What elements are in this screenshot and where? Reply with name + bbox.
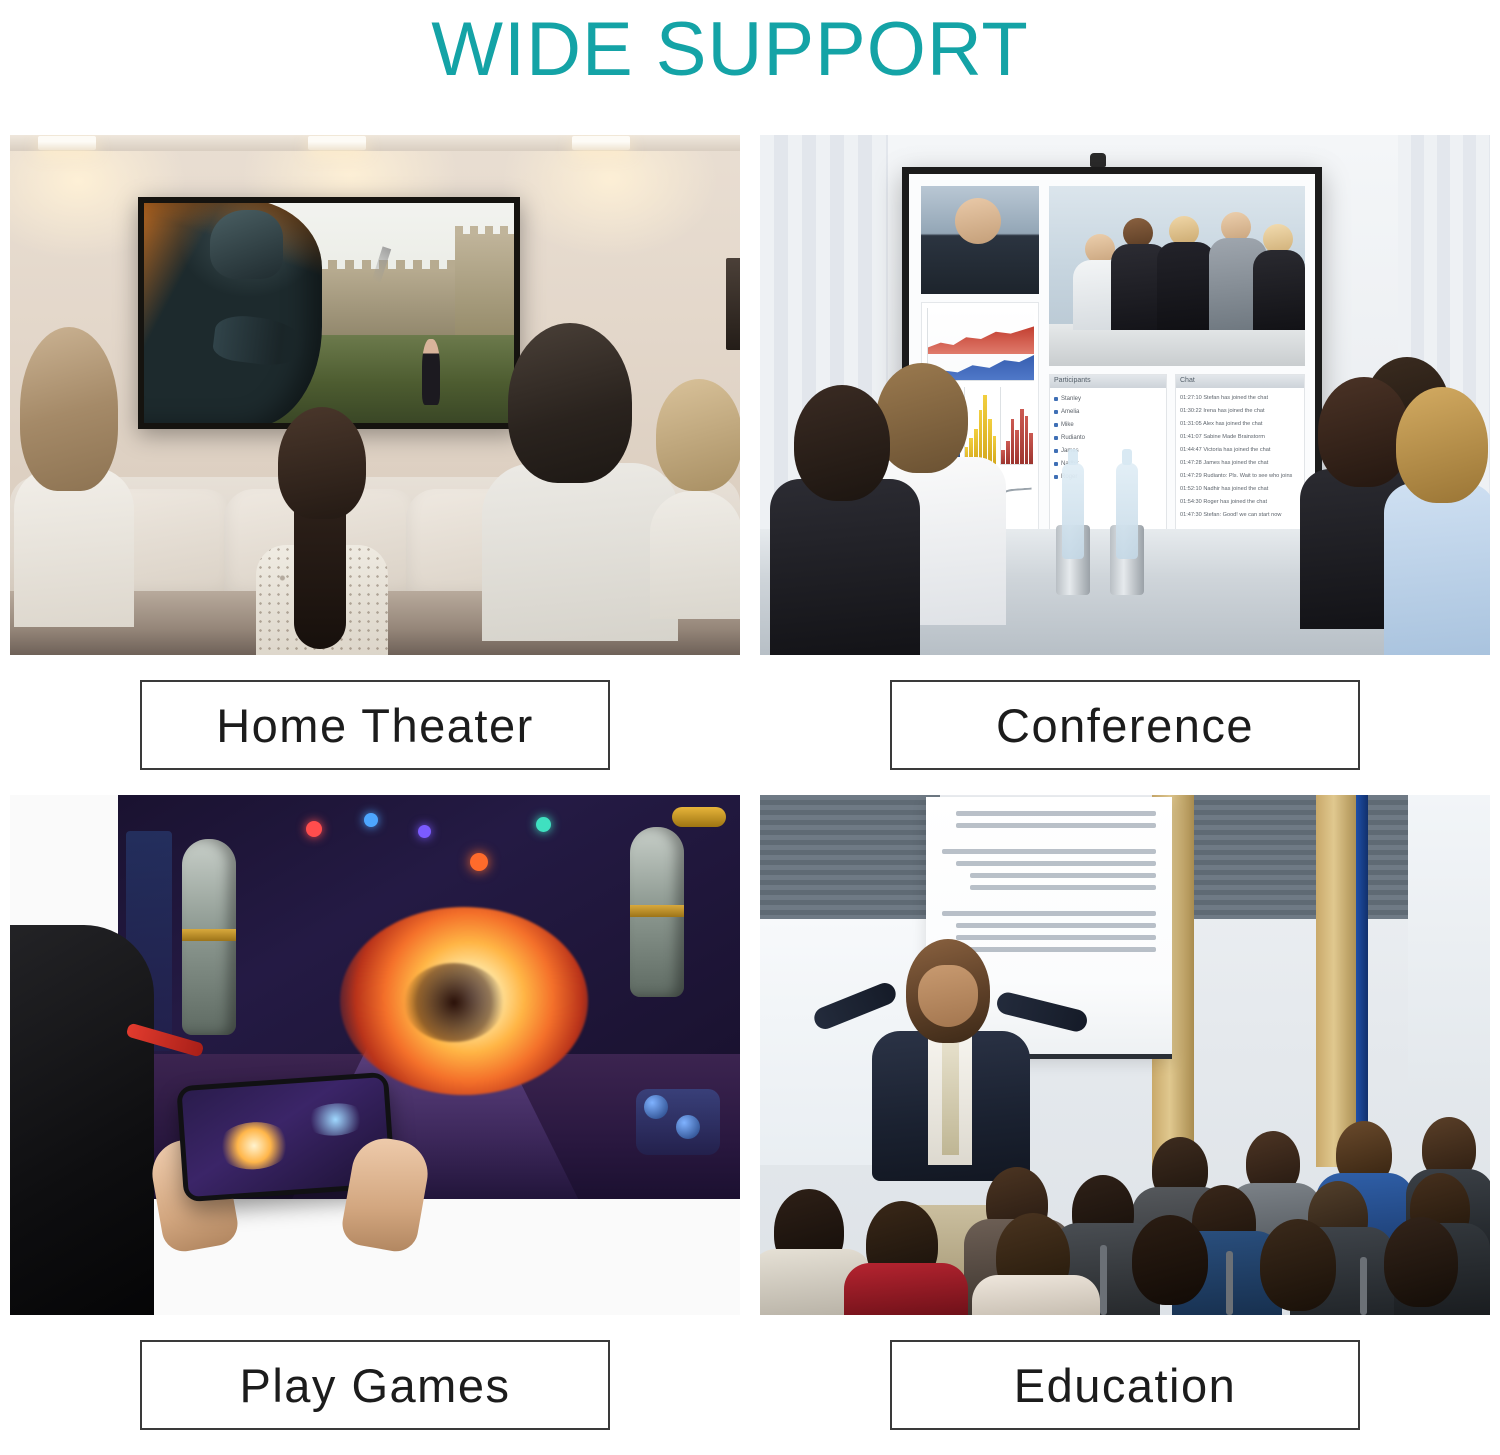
game-minion-marker xyxy=(364,813,378,827)
caption-box-education: Education xyxy=(890,1340,1360,1430)
water-bottle xyxy=(1116,463,1138,559)
caption-label-play-games: Play Games xyxy=(240,1358,511,1413)
caption-label-conference: Conference xyxy=(996,698,1254,753)
page-title: WIDE SUPPORT xyxy=(0,2,1460,98)
user-icon xyxy=(1054,397,1058,401)
presenter-video-thumbnail xyxy=(921,186,1039,294)
remote-participant-body xyxy=(1157,242,1215,330)
game-minion-marker xyxy=(470,853,488,871)
viewer-woman xyxy=(14,327,134,627)
list-item[interactable]: Rudianto xyxy=(1054,431,1162,444)
mech-robot xyxy=(144,203,322,423)
viewer-head xyxy=(656,379,740,491)
player-silhouette xyxy=(10,925,154,1315)
user-icon xyxy=(1054,449,1058,453)
caption-box-conference: Conference xyxy=(890,680,1360,770)
game-tower xyxy=(630,827,684,997)
caption-wrap-education: Education xyxy=(760,1315,1490,1455)
ceiling-light-icon xyxy=(572,136,630,150)
viewer-body xyxy=(14,467,134,627)
chat-line: 01:54:30 Roger has joined the chat xyxy=(1180,496,1300,509)
viewer-man xyxy=(482,323,678,641)
viewer-body xyxy=(650,491,740,619)
explosion-effect xyxy=(340,907,588,1095)
chat-line: 01:44:47 Victoria has joined the chat xyxy=(1180,444,1300,457)
audience xyxy=(760,1063,1490,1315)
viewer-head xyxy=(20,327,118,491)
audience-body xyxy=(844,1263,968,1315)
user-icon xyxy=(1054,410,1058,414)
caption-box-home-theater: Home Theater xyxy=(140,680,610,770)
chat-line: 01:27:10 Stefan has joined the chat xyxy=(1180,392,1300,405)
caption-box-play-games: Play Games xyxy=(140,1340,610,1430)
slide-bullet-line xyxy=(956,811,1156,816)
chair-leg xyxy=(1360,1257,1367,1315)
participant-name: Mike xyxy=(1061,422,1074,428)
game-control-wheel xyxy=(636,1089,720,1155)
participant-name: Amelia xyxy=(1061,409,1079,415)
caption-wrap-home-theater: Home Theater xyxy=(10,655,740,795)
viewer-head xyxy=(278,407,366,519)
chat-line: 01:47:30 Stefan: Good! we can start now xyxy=(1180,509,1300,522)
slide-bullet-line xyxy=(970,873,1156,878)
attendee-body xyxy=(770,479,920,655)
attendee-woman-left xyxy=(770,385,920,655)
chat-pane-header: Chat xyxy=(1176,375,1304,388)
area-series-upper xyxy=(928,324,1034,354)
window-blind xyxy=(1194,795,1408,919)
chat-line: 01:47:28 James has joined the chat xyxy=(1180,457,1300,470)
use-case-grid: Home Theater xyxy=(10,135,1490,1420)
chat-log: 01:27:10 Stefan has joined the chat 01:3… xyxy=(1176,388,1304,526)
ceiling-light-icon xyxy=(308,136,366,150)
chat-line: 01:31:05 Alex has joined the chat xyxy=(1180,418,1300,431)
viewer-head xyxy=(508,323,632,483)
slide-bullet-line xyxy=(956,861,1156,866)
slide-bullet-line xyxy=(942,911,1156,916)
projection-screen xyxy=(138,197,520,429)
conference-photo: Participants Stanley Amelia Mike Rudiant… xyxy=(760,135,1490,655)
game-minion-marker xyxy=(536,817,551,832)
chat-line: 01:30:22 Irena has joined the chat xyxy=(1180,405,1300,418)
caption-wrap-conference: Conference xyxy=(760,655,1490,795)
camera-icon xyxy=(1090,153,1106,167)
list-item[interactable]: Stanley xyxy=(1054,392,1162,405)
viewer-girl xyxy=(256,407,388,655)
game-minion-marker xyxy=(418,825,431,838)
chat-line: 01:47:29 Rudianto: Pls. Wait to see who … xyxy=(1180,470,1300,483)
viewer-body xyxy=(482,463,678,641)
chair-leg xyxy=(1226,1251,1233,1315)
slide-bullet-line xyxy=(956,823,1156,828)
slide-bullet-line xyxy=(942,849,1156,854)
panel-education: Education xyxy=(760,795,1490,1455)
attendee-head xyxy=(794,385,890,501)
slide-bullet-line xyxy=(956,923,1156,928)
caption-wrap-play-games: Play Games xyxy=(10,1315,740,1455)
panel-home-theater: Home Theater xyxy=(10,135,740,795)
participant-name: Stanley xyxy=(1061,396,1081,402)
attendee-body xyxy=(1384,483,1490,655)
audience-body xyxy=(972,1275,1100,1315)
panel-play-games: Play Games xyxy=(10,795,740,1455)
movie-character-woman xyxy=(422,339,441,405)
education-photo xyxy=(760,795,1490,1315)
window-blind xyxy=(760,795,940,919)
remote-table xyxy=(1049,324,1305,366)
water-bottle xyxy=(1062,463,1084,559)
ceiling-light-icon xyxy=(38,136,96,150)
caption-label-home-theater: Home Theater xyxy=(216,698,534,753)
wall-speaker xyxy=(726,258,740,350)
viewer-child xyxy=(650,379,740,619)
attendee-head xyxy=(1396,387,1488,503)
audience-head xyxy=(1384,1217,1458,1307)
play-games-photo xyxy=(10,795,740,1315)
slide-bullet-line xyxy=(970,885,1156,890)
home-theater-photo xyxy=(10,135,740,655)
chat-line: 01:52:10 Nadhir has joined the chat xyxy=(1180,483,1300,496)
user-icon xyxy=(1054,462,1058,466)
panel-conference: Participants Stanley Amelia Mike Rudiant… xyxy=(760,135,1490,795)
user-icon xyxy=(1054,436,1058,440)
gold-counter-badge xyxy=(672,807,726,827)
game-tower xyxy=(182,839,236,1035)
game-minion-marker xyxy=(306,821,322,837)
list-item[interactable]: Amelia xyxy=(1054,405,1162,418)
remote-room-video-feed xyxy=(1049,186,1305,366)
user-icon xyxy=(1054,423,1058,427)
mech-head xyxy=(210,210,283,279)
caption-label-education: Education xyxy=(1014,1358,1237,1413)
lecturer-face xyxy=(918,965,978,1027)
movie-frame xyxy=(144,203,514,423)
participants-pane-header: Participants xyxy=(1050,375,1166,388)
right-wall xyxy=(1408,795,1490,1095)
chat-line: 01:41:07 Sabine Made Brainstorm xyxy=(1180,431,1300,444)
audience-head xyxy=(1132,1215,1208,1305)
participant-name: Rudianto xyxy=(1061,435,1085,441)
chair-leg xyxy=(1100,1245,1107,1315)
ceiling xyxy=(10,135,740,151)
audience-head xyxy=(1260,1219,1336,1311)
user-icon xyxy=(1054,475,1058,479)
attendee-woman-far-right xyxy=(1384,387,1490,655)
remote-participant-body xyxy=(1253,250,1305,330)
mech-arm xyxy=(211,312,308,369)
list-item[interactable]: Mike xyxy=(1054,418,1162,431)
